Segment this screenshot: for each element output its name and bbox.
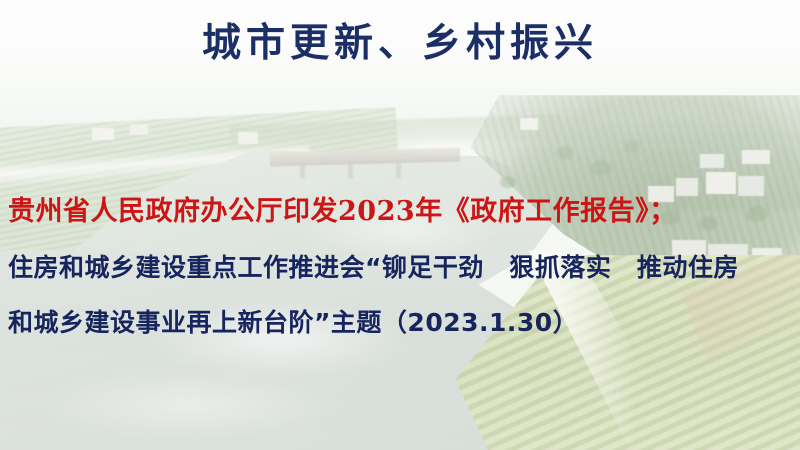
presentation-slide: 城市更新、乡村振兴 贵州省人民政府办公厅印发2023年《政府工作报告》； 住房和… (0, 0, 800, 450)
slide-body: 贵州省人民政府办公厅印发2023年《政府工作报告》； 住房和城乡建设重点工作推进… (0, 198, 800, 335)
body-line-1: 贵州省人民政府办公厅印发2023年《政府工作报告》； (0, 198, 800, 225)
body-line-2: 住房和城乡建设重点工作推进会“铆足干劲 狠抓落实 推动住房 (0, 255, 800, 280)
body-line-3: 和城乡建设事业再上新台阶”主题（2023.1.30） (0, 310, 800, 335)
slide-title: 城市更新、乡村振兴 (0, 12, 800, 68)
